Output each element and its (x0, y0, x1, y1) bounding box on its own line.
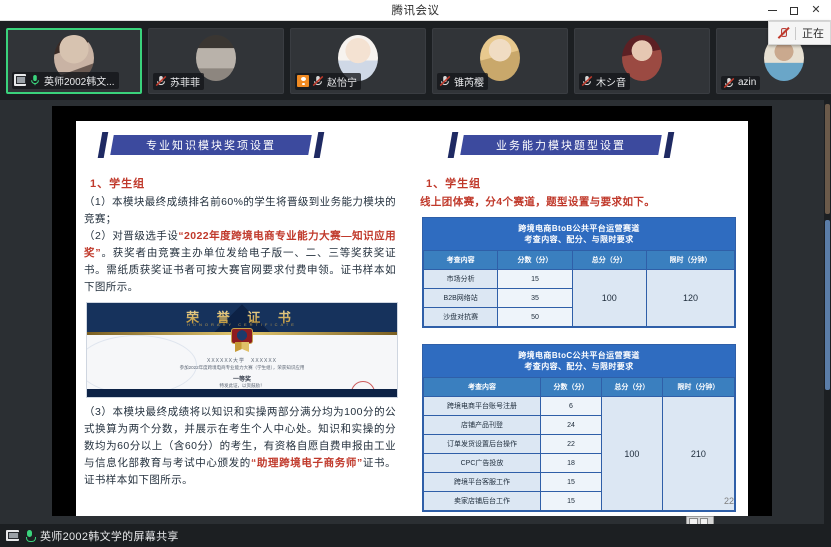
column-header: 分数（分） (541, 378, 602, 397)
window-controls: ✕ (761, 0, 827, 21)
table-btob-caption: 跨境电商BtoB公共平台运营赛道 考查内容、配分、与限时要求 (423, 218, 735, 250)
mic-off-icon (581, 75, 593, 87)
mic-on-icon (29, 74, 41, 86)
mic-on-icon (24, 530, 35, 542)
screen-share-icon (14, 74, 26, 86)
left-banner-wrap: 专业知识模块奖项设置 (76, 135, 406, 173)
right-subhead: 1、学生组 (426, 175, 748, 191)
left-paragraph-3-highlight: “助理跨境电子商务师” (251, 457, 363, 469)
left-paragraph-2-post: 。获奖者由竞赛主办单位发给电子版一、二、三等奖获奖证书。需纸质获奖证书者可按大赛… (84, 247, 396, 293)
shared-screen-frame: 专业知识模块奖项设置 1、学生组 （1）本模块最终成绩排名前60%的学生将晋级到… (52, 106, 772, 516)
right-banner: 业务能力模块题型设置 (460, 135, 662, 155)
left-subhead: 1、学生组 (90, 175, 406, 191)
table-header-row: 考查内容 分数（分） 总分（分） 限时（分钟） (424, 251, 735, 270)
scroll-thumb[interactable] (825, 104, 830, 214)
participant-name: 赵怡宁 (327, 74, 357, 89)
column-header: 考查内容 (424, 378, 541, 397)
share-status-text: 英师2002韩文学的屏幕共享 (40, 528, 179, 544)
table-btob-caption-line-1: 跨境电商BtoB公共平台运营赛道 (425, 223, 733, 234)
mic-off-icon (439, 75, 451, 87)
host-icon (297, 75, 309, 87)
participant-tile[interactable]: 木シ音 (574, 28, 710, 94)
table-btob: 跨境电商BtoB公共平台运营赛道 考查内容、配分、与限时要求 考查内容 分数（分… (422, 217, 736, 328)
participant-tile[interactable]: 锥芮樱 (432, 28, 568, 94)
right-banner-title: 业务能力模块题型设置 (496, 137, 626, 153)
left-paragraph-2: （2）对晋级选手设“2022年度跨境电商专业能力大赛—知识应用奖”。获奖者由竞赛… (84, 228, 396, 296)
divider (795, 27, 796, 40)
cell-score: 22 (541, 435, 602, 454)
participant-tile[interactable]: 英师2002韩文... (6, 28, 142, 94)
certificate-line-2: 参加2022年度跨境电商专业能力大赛（学生组），荣获知识应用 (87, 365, 397, 371)
slide-page-number: 22 (724, 496, 734, 506)
cell-score: 15 (541, 473, 602, 492)
participant-name: 英师2002韩文... (44, 73, 115, 88)
table-btob-caption-line-2: 考查内容、配分、与限时要求 (425, 234, 733, 245)
notice-text: 正在 (802, 25, 824, 41)
table-row: 跨境电商平台账号注册 6 100 210 (424, 397, 735, 416)
left-paragraph-3: （3）本模块最终成绩将以知识和实操两部分满分均为100分的公式换算为两个分数，并… (84, 404, 396, 489)
cell-total: 100 (601, 397, 662, 511)
certificate-subtitle: HONORARY CERTIFICATE (87, 322, 397, 327)
right-scroll-strip[interactable] (824, 100, 831, 524)
cell-time-limit: 210 (662, 397, 734, 511)
cell-score: 15 (498, 270, 572, 289)
certificate-bottom-band (87, 389, 397, 397)
cell-item: 市场分析 (424, 270, 498, 289)
cell-total: 100 (572, 270, 646, 327)
cell-item: CPC广告投放 (424, 454, 541, 473)
column-header: 限时（分钟） (662, 378, 734, 397)
participant-name: azin (738, 77, 756, 88)
certificate-image: 荣 誉 证 书 HONORARY CERTIFICATE XXXXXX大学 XX… (86, 302, 398, 398)
participant-name: 锥芮樱 (454, 74, 484, 89)
cell-score: 24 (541, 416, 602, 435)
participant-filmstrip: 英师2002韩文... 苏菲菲 (0, 21, 831, 100)
maximize-button[interactable] (783, 0, 805, 21)
left-banner: 专业知识模块奖项设置 (110, 135, 312, 155)
cell-item: 卖家店铺后台工作 (424, 492, 541, 511)
minimize-button[interactable] (761, 0, 783, 21)
certificate-ribbon-icon (235, 342, 249, 352)
title-bar: 腾讯会议 ✕ (0, 0, 831, 21)
table-header-row: 考查内容 分数（分） 总分（分） 限时（分钟） (424, 378, 735, 397)
participant-namebar: 木シ音 (579, 73, 630, 90)
slide-left-column: 专业知识模块奖项设置 1、学生组 （1）本模块最终成绩排名前60%的学生将晋级到… (76, 121, 406, 489)
mute-notice-overlay[interactable]: 正在 (768, 21, 831, 45)
table-btoc-caption: 跨境电商BtoC公共平台运营赛道 考查内容、配分、与限时要求 (423, 345, 735, 377)
slide-right-column: 业务能力模块题型设置 1、学生组 线上团体赛，分4个赛道，题型设置与要求如下。 … (412, 121, 748, 512)
cell-score: 6 (541, 397, 602, 416)
close-button[interactable]: ✕ (805, 0, 827, 21)
mic-off-icon (312, 75, 324, 87)
column-header: 分数（分） (498, 251, 572, 270)
cell-score: 15 (541, 492, 602, 511)
participant-tile[interactable]: 赵怡宁 (290, 28, 426, 94)
presentation-slide: 专业知识模块奖项设置 1、学生组 （1）本模块最终成绩排名前60%的学生将晋级到… (76, 121, 748, 516)
participant-namebar: 赵怡宁 (295, 73, 361, 90)
cell-score: 50 (498, 308, 572, 327)
left-paragraph-1: （1）本模块最终成绩排名前60%的学生将晋级到业务能力模块的竞赛； (84, 194, 396, 228)
screen-share-icon (6, 530, 19, 541)
participant-name: 木シ音 (596, 74, 626, 89)
mic-off-icon (155, 75, 167, 87)
cell-item: 沙盘对抗赛 (424, 308, 498, 327)
participant-namebar: 英师2002韩文... (12, 72, 119, 89)
scroll-thumb-secondary[interactable] (825, 220, 830, 390)
column-header: 限时（分钟） (646, 251, 734, 270)
window-title: 腾讯会议 (392, 2, 440, 18)
certificate-line-1: XXXXXX大学 XXXXXX (87, 357, 397, 364)
screen-share-status-bar: 英师2002韩文学的屏幕共享 (0, 524, 831, 547)
certificate-seal-icon (231, 328, 253, 344)
cell-time-limit: 120 (646, 270, 734, 327)
cell-score: 18 (541, 454, 602, 473)
left-banner-title: 专业知识模块奖项设置 (146, 137, 276, 153)
column-header: 总分（分） (601, 378, 662, 397)
left-paragraph-2-pre: （2）对晋级选手设 (84, 230, 178, 242)
table-btoc-caption-line-1: 跨境电商BtoC公共平台运营赛道 (425, 350, 733, 361)
cell-item: 跨境电商平台账号注册 (424, 397, 541, 416)
table-btoc-caption-line-2: 考查内容、配分、与限时要求 (425, 361, 733, 372)
table-row: 市场分析 15 100 120 (424, 270, 735, 289)
right-paragraph: 线上团体赛，分4个赛道，题型设置与要求如下。 (420, 194, 738, 211)
cell-score: 35 (498, 289, 572, 308)
participant-namebar: 苏菲菲 (153, 73, 204, 90)
tencent-meeting-window: 腾讯会议 ✕ 英师2002韩文... (0, 0, 831, 547)
cell-item: 订单发货设置后台操作 (424, 435, 541, 454)
cell-item: B2B网络站 (424, 289, 498, 308)
certificate-line-3: 一等奖 (87, 374, 397, 383)
column-header: 考查内容 (424, 251, 498, 270)
mic-off-icon (777, 27, 789, 39)
shared-screen-region: 专业知识模块奖项设置 1、学生组 （1）本模块最终成绩排名前60%的学生将晋级到… (0, 100, 824, 524)
right-banner-wrap: 业务能力模块题型设置 (412, 135, 748, 173)
mic-off-icon (723, 77, 735, 89)
table-gap (412, 328, 748, 344)
cell-item: 店铺产品刊登 (424, 416, 541, 435)
cell-item: 跨境平台客服工作 (424, 473, 541, 492)
participant-tile[interactable]: 苏菲菲 (148, 28, 284, 94)
column-header: 总分（分） (572, 251, 646, 270)
table-btoc: 跨境电商BtoC公共平台运营赛道 考查内容、配分、与限时要求 考查内容 分数（分… (422, 344, 736, 512)
participant-namebar: 锥芮樱 (437, 73, 488, 90)
participant-namebar: azin (721, 76, 760, 90)
participant-name: 苏菲菲 (170, 74, 200, 89)
